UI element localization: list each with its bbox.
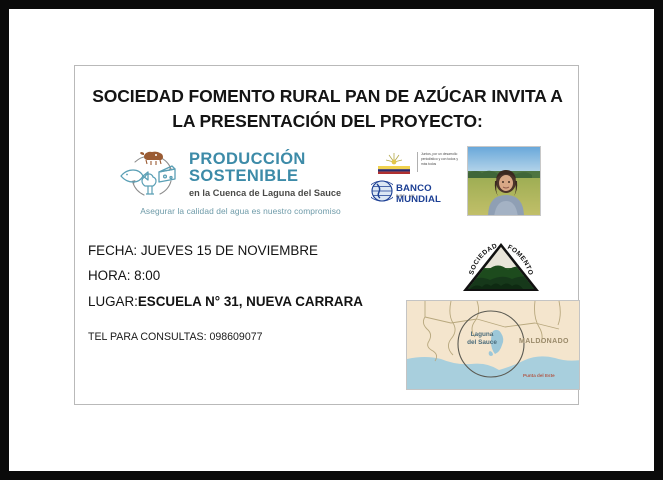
logo-divider <box>417 152 418 172</box>
headline-line-1: SOCIEDAD FOMENTO RURAL PAN DE AZÚCAR INV… <box>75 84 580 109</box>
sociedad-fomento-emblem: SOCIEDAD FOMENTO <box>460 240 542 294</box>
flyer-content-card: SOCIEDAD FOMENTO RURAL PAN DE AZÚCAR INV… <box>74 65 579 405</box>
government-emblem-icon <box>373 150 415 176</box>
detail-fecha: FECHA: JUEVES 15 DE NOVIEMBRE <box>88 244 488 257</box>
banco-mundial-logo: BANCO MUNDIAL BIRF · AIF <box>371 179 463 204</box>
logos-row: PRODUCCIÓN SOSTENIBLE en la Cuenca de La… <box>75 146 580 220</box>
plant-icon <box>142 174 156 194</box>
cheese-icon <box>159 166 175 182</box>
world-bank-logos: Juntos, por un desarrollo periodistico y… <box>371 150 463 210</box>
lugar-value: ESCUELA N° 31, NUEVA CARRARA <box>138 294 363 309</box>
cow-icon <box>140 152 163 165</box>
ps-word-produccion: PRODUCCIÓN <box>189 151 363 168</box>
poster-black-frame: SOCIEDAD FOMENTO RURAL PAN DE AZÚCAR INV… <box>0 0 663 480</box>
government-logo: Juntos, por un desarrollo periodistico y… <box>371 150 463 176</box>
produccion-sostenible-logo: PRODUCCIÓN SOSTENIBLE en la Cuenca de La… <box>115 148 363 220</box>
ps-word-sostenible: SOSTENIBLE <box>189 168 363 185</box>
sustainability-cycle-icon <box>115 148 187 204</box>
government-tagline: Juntos, por un desarrollo periodistico y… <box>421 152 463 166</box>
laguna-del-sauce-map: Laguna del Sauce MALDONADO Punta del Est… <box>406 300 580 390</box>
headline-line-2: LA PRESENTACIÓN DEL PROYECTO: <box>75 109 580 134</box>
produccion-sostenible-wordmark: PRODUCCIÓN SOSTENIBLE en la Cuenca de La… <box>189 151 363 198</box>
banco-mundial-subtitle: BIRF · AIF <box>396 194 415 198</box>
page-title: SOCIEDAD FOMENTO RURAL PAN DE AZÚCAR INV… <box>75 84 580 135</box>
ps-tagline: Asegurar la calidad del agua es nuestro … <box>118 206 363 216</box>
detail-hora: HORA: 8:00 <box>88 269 488 282</box>
lugar-label: LUGAR: <box>88 294 138 309</box>
map-graphic <box>407 301 580 390</box>
woman-in-field-photo <box>467 146 541 216</box>
poster-white-page: SOCIEDAD FOMENTO RURAL PAN DE AZÚCAR INV… <box>9 9 654 471</box>
ps-subtitle: en la Cuenca de Laguna del Sauce <box>189 188 363 198</box>
globe-icon <box>371 180 393 202</box>
fish-icon <box>121 170 148 182</box>
